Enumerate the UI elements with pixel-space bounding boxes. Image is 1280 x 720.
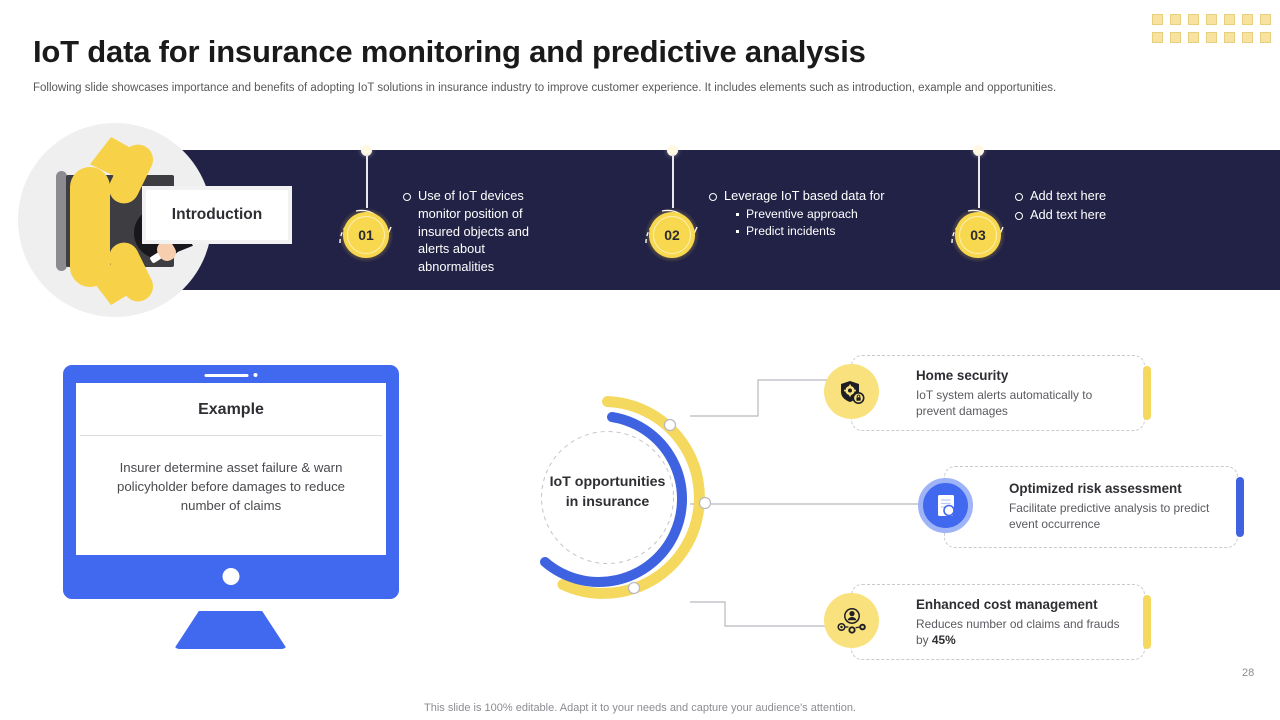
introduction-badge: Introduction <box>146 190 288 240</box>
circle-bullet-icon <box>1015 193 1023 201</box>
card-accent-bar <box>1236 477 1244 537</box>
card-title: Enhanced cost management <box>916 597 1130 612</box>
introduction-badge-label: Introduction <box>172 206 262 224</box>
page-number: 28 <box>1242 667 1254 679</box>
shield-gear-lock-icon <box>824 364 879 419</box>
monitor-stand <box>174 611 287 649</box>
step-sub-label: Preventive approach <box>746 206 858 223</box>
ring-label-line2: in insurance <box>500 492 715 512</box>
step-number-label: 01 <box>358 227 374 243</box>
monitor-home-button <box>223 568 240 585</box>
monitor-camera-dot <box>254 373 258 377</box>
step-sub-item: Predict incidents <box>736 223 887 240</box>
decor-dot <box>1188 14 1199 25</box>
step-sub-item: Preventive approach <box>736 206 887 223</box>
page-title: IoT data for insurance monitoring and pr… <box>33 34 1083 70</box>
monitor-screen: Example Insurer determine asset failure … <box>76 383 386 555</box>
card-title: Optimized risk assessment <box>1009 481 1223 496</box>
decor-dot <box>1224 32 1235 43</box>
decor-dot <box>1260 14 1271 25</box>
circle-bullet-icon <box>403 193 411 201</box>
decor-dot <box>1170 14 1181 25</box>
decor-dot <box>1152 14 1163 25</box>
decor-dot <box>1242 14 1253 25</box>
page-subtitle: Following slide showcases importance and… <box>33 81 1153 96</box>
card-description-highlight: 45% <box>932 633 956 647</box>
ring-center-label: IoT opportunities in insurance <box>500 472 715 512</box>
step-bullet-text: Use of IoT devices monitor position of i… <box>418 187 553 276</box>
square-bullet-icon <box>736 213 739 216</box>
decor-dot <box>1152 32 1163 43</box>
card-description: IoT system alerts automatically to preve… <box>916 387 1130 419</box>
step-item-03[interactable]: 03 Add text here Add text here <box>947 150 1207 290</box>
ring-label-line1: IoT opportunities <box>500 472 715 492</box>
circle-bullet-icon <box>709 193 717 201</box>
decor-dot <box>1242 32 1253 43</box>
monitor-speaker-slot <box>205 374 249 377</box>
example-body: Insurer determine asset failure & warn p… <box>76 436 386 515</box>
dot-grid-decoration <box>1148 10 1274 46</box>
footer-note: This slide is 100% editable. Adapt it to… <box>0 702 1280 714</box>
circle-bullet-icon <box>1015 212 1023 220</box>
decor-dot <box>1188 32 1199 43</box>
decor-dot <box>1206 14 1217 25</box>
card-description: Facilitate predictive analysis to predic… <box>1009 500 1223 532</box>
step-bullet-text: Add text here <box>1030 187 1106 205</box>
example-title: Example <box>80 383 382 436</box>
step-number-label: 03 <box>970 227 986 243</box>
step-content-02: Leverage IoT based data for Preventive a… <box>709 187 887 240</box>
card-accent-bar <box>1143 366 1151 420</box>
step-content-01: Use of IoT devices monitor position of i… <box>403 187 553 276</box>
step-badge-circle: 01 <box>343 212 389 258</box>
example-monitor: Example Insurer determine asset failure … <box>63 365 399 599</box>
card-description: Reduces number od claims and frauds by 4… <box>916 616 1130 648</box>
step-item-01[interactable]: 01 Use of IoT devices monitor position o… <box>335 150 565 290</box>
step-number-badge-03[interactable]: 03 <box>951 208 1005 262</box>
step-number-label: 02 <box>664 227 680 243</box>
step-content-03: Add text here Add text here <box>1015 187 1193 224</box>
step-badge-circle: 02 <box>649 212 695 258</box>
step-number-badge-01[interactable]: 01 <box>339 208 393 262</box>
decor-dot <box>1206 32 1217 43</box>
card-accent-bar <box>1143 595 1151 649</box>
step-number-badge-02[interactable]: 02 <box>645 208 699 262</box>
decor-dot <box>1224 14 1235 25</box>
opportunity-card-home-security[interactable]: Home security IoT system alerts automati… <box>851 355 1145 431</box>
decor-dot <box>1170 32 1181 43</box>
monitor-camera-strip <box>205 373 258 377</box>
card-title: Home security <box>916 368 1130 383</box>
step-bullet-text: Leverage IoT based data for <box>724 187 885 205</box>
step-sub-label: Predict incidents <box>746 223 835 240</box>
user-network-icon <box>824 593 879 648</box>
opportunity-card-cost-management[interactable]: Enhanced cost management Reduces number … <box>851 584 1145 660</box>
iot-opportunities-ring: IoT opportunities in insurance <box>500 390 715 605</box>
square-bullet-icon <box>736 230 739 233</box>
step-sub-list: Preventive approach Predict incidents <box>736 206 887 240</box>
opportunity-card-risk-assessment[interactable]: Optimized risk assessment Facilitate pre… <box>944 466 1238 548</box>
decor-dot <box>1260 32 1271 43</box>
document-search-icon <box>918 478 973 533</box>
step-bullet-text: Add text here <box>1030 206 1106 224</box>
step-item-02[interactable]: 02 Leverage IoT based data for Preventiv… <box>641 150 901 290</box>
step-badge-circle: 03 <box>955 212 1001 258</box>
slide-root: IoT data for insurance monitoring and pr… <box>0 0 1280 720</box>
